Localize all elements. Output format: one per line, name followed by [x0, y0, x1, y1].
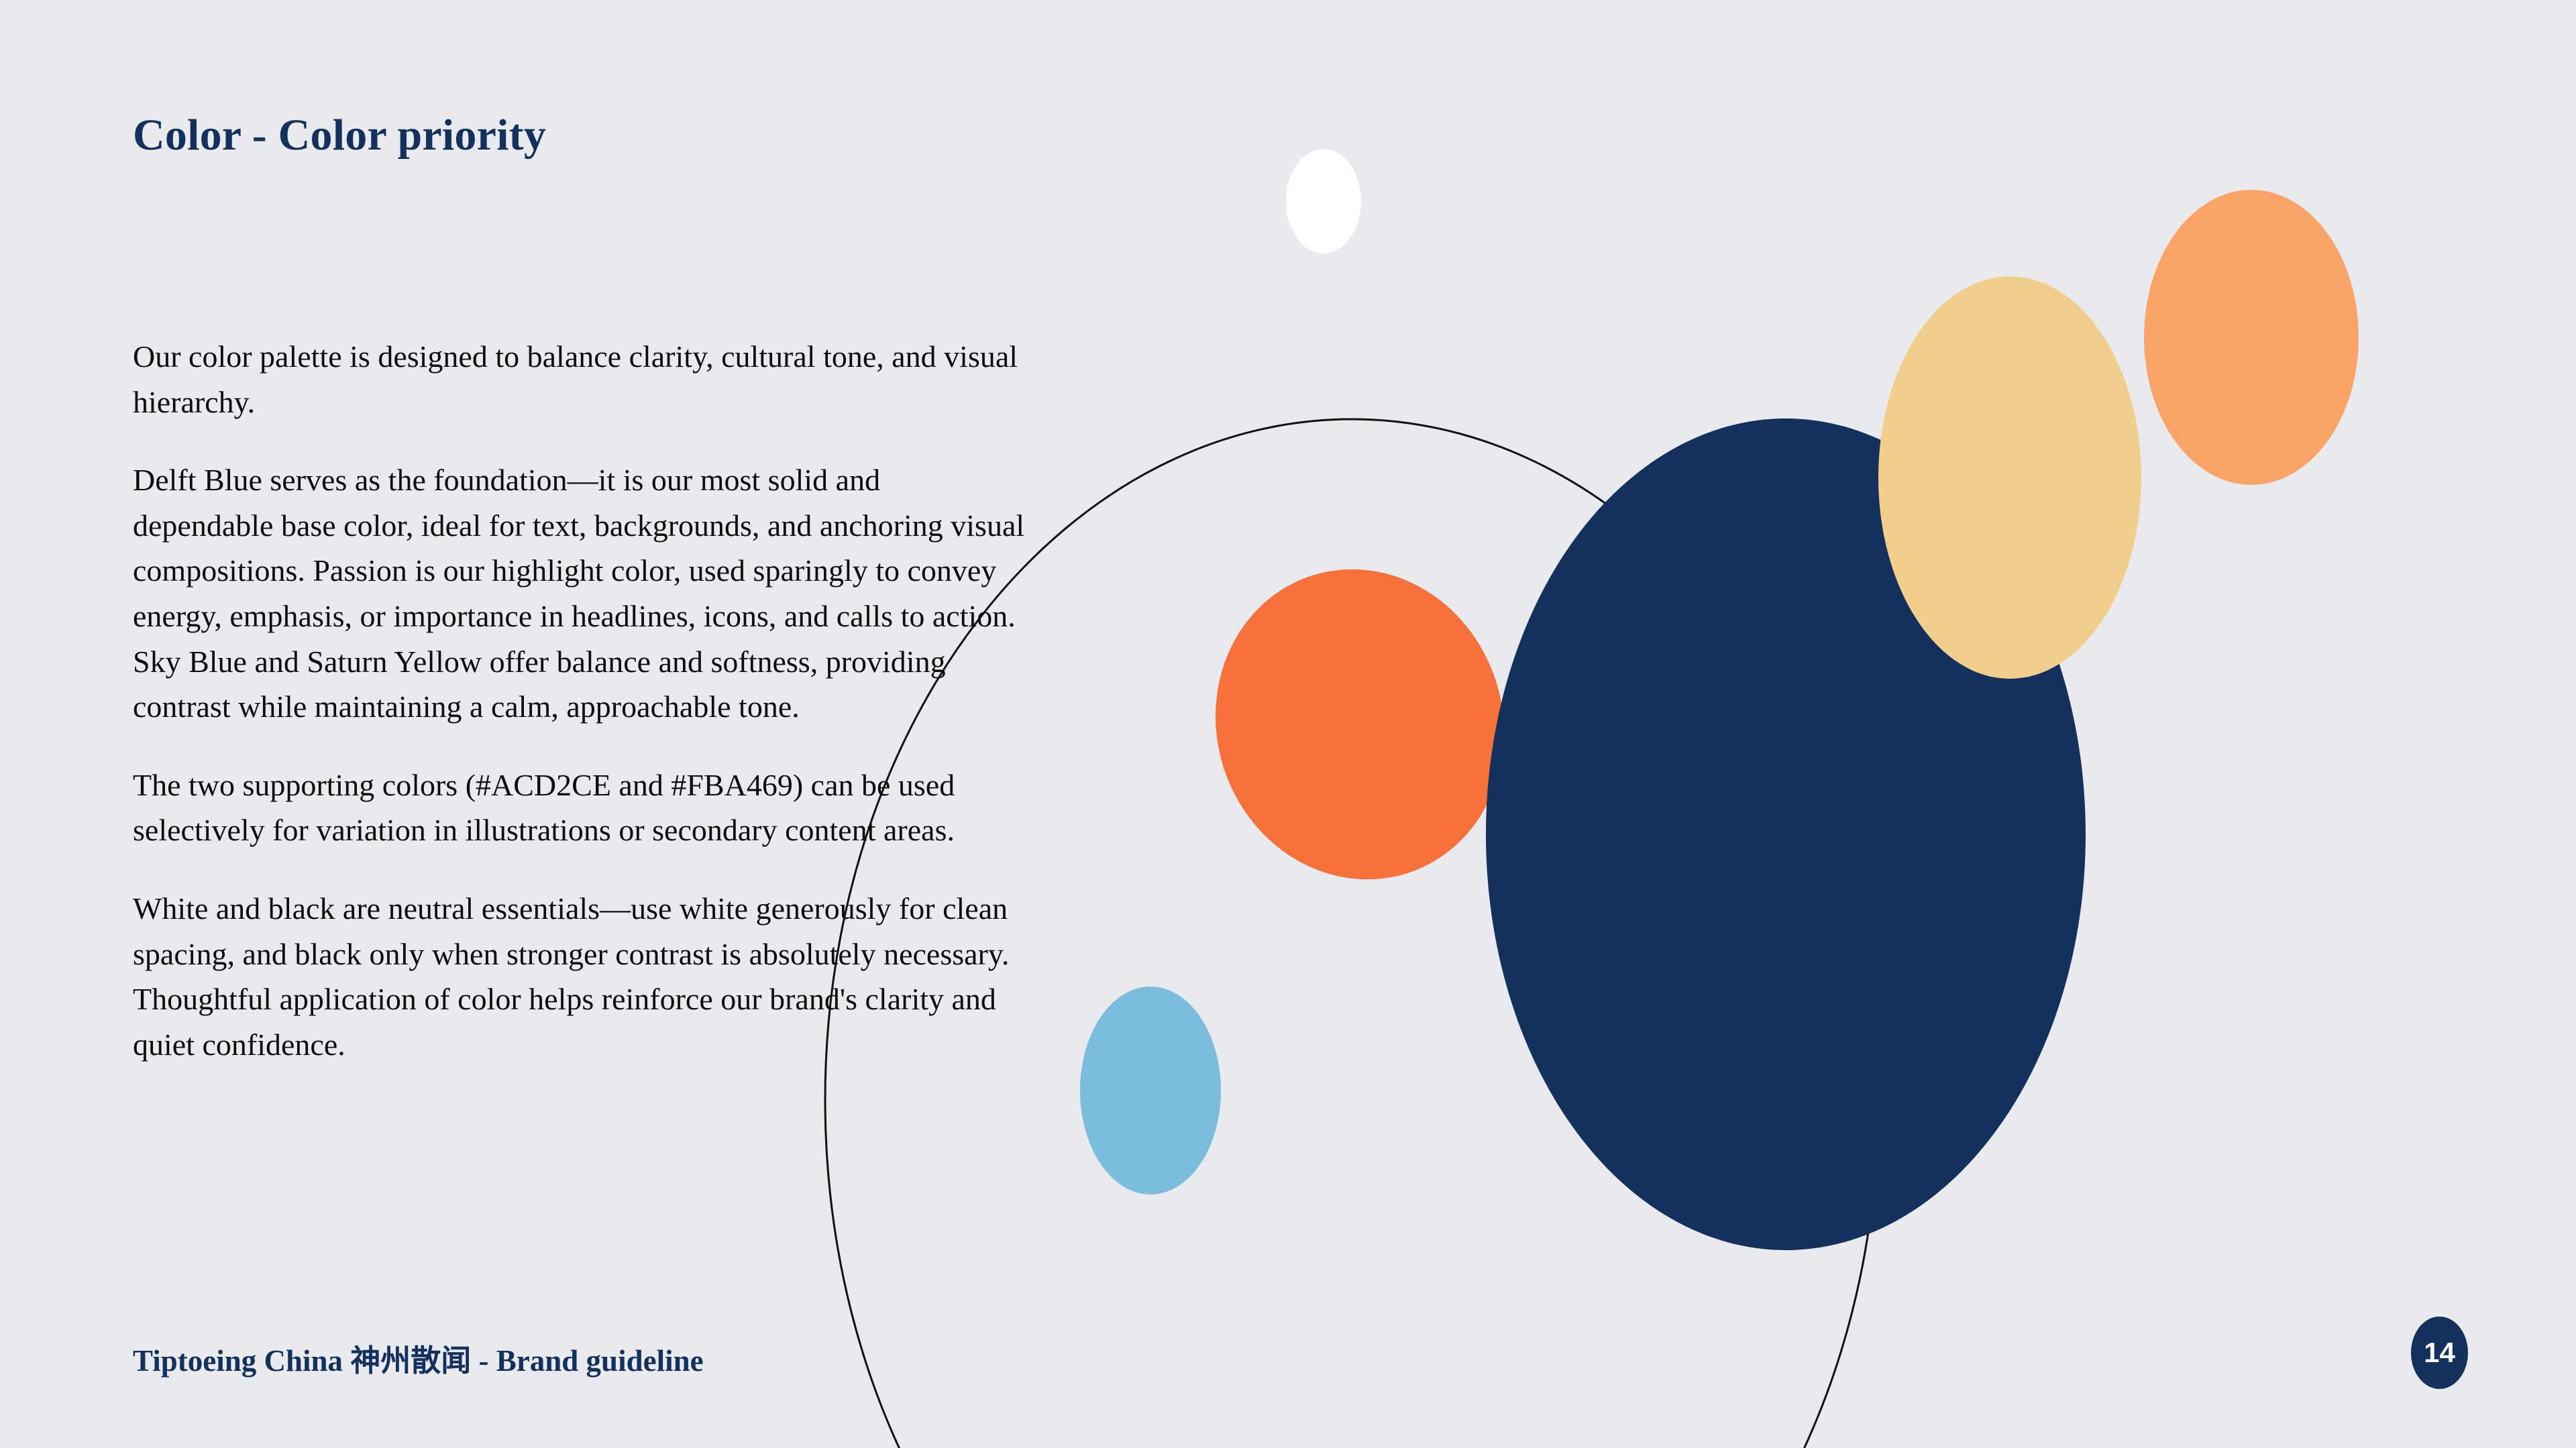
- slide-canvas: Color - Color priority Our color palette…: [0, 0, 2576, 1448]
- sky-blue-ellipse-shape: [1080, 987, 1221, 1194]
- page-number-label: 14: [2424, 1339, 2455, 1367]
- footer-brand-label: Tiptoeing China 神州散闻 - Brand guideline: [133, 1336, 704, 1380]
- body-paragraph-3: The two supporting colors (#ACD2CE and #…: [133, 763, 1025, 853]
- body-text-column: Our color palette is designed to balance…: [133, 334, 1025, 1068]
- body-paragraph-1: Our color palette is designed to balance…: [133, 334, 1025, 425]
- saturn-yellow-ellipse-shape: [1878, 276, 2141, 679]
- peach-ellipse-shape: [2144, 190, 2359, 485]
- page-title: Color - Color priority: [133, 110, 546, 161]
- body-paragraph-4: White and black are neutral essentials—u…: [133, 886, 1025, 1067]
- body-paragraph-2: Delft Blue serves as the foundation—it i…: [133, 457, 1025, 730]
- delft-blue-ellipse-shape: [1486, 419, 2086, 1250]
- white-ellipse-shape: [1286, 149, 1361, 254]
- passion-orange-ellipse-shape: [1175, 532, 1544, 917]
- page-number-badge: 14: [2411, 1317, 2468, 1389]
